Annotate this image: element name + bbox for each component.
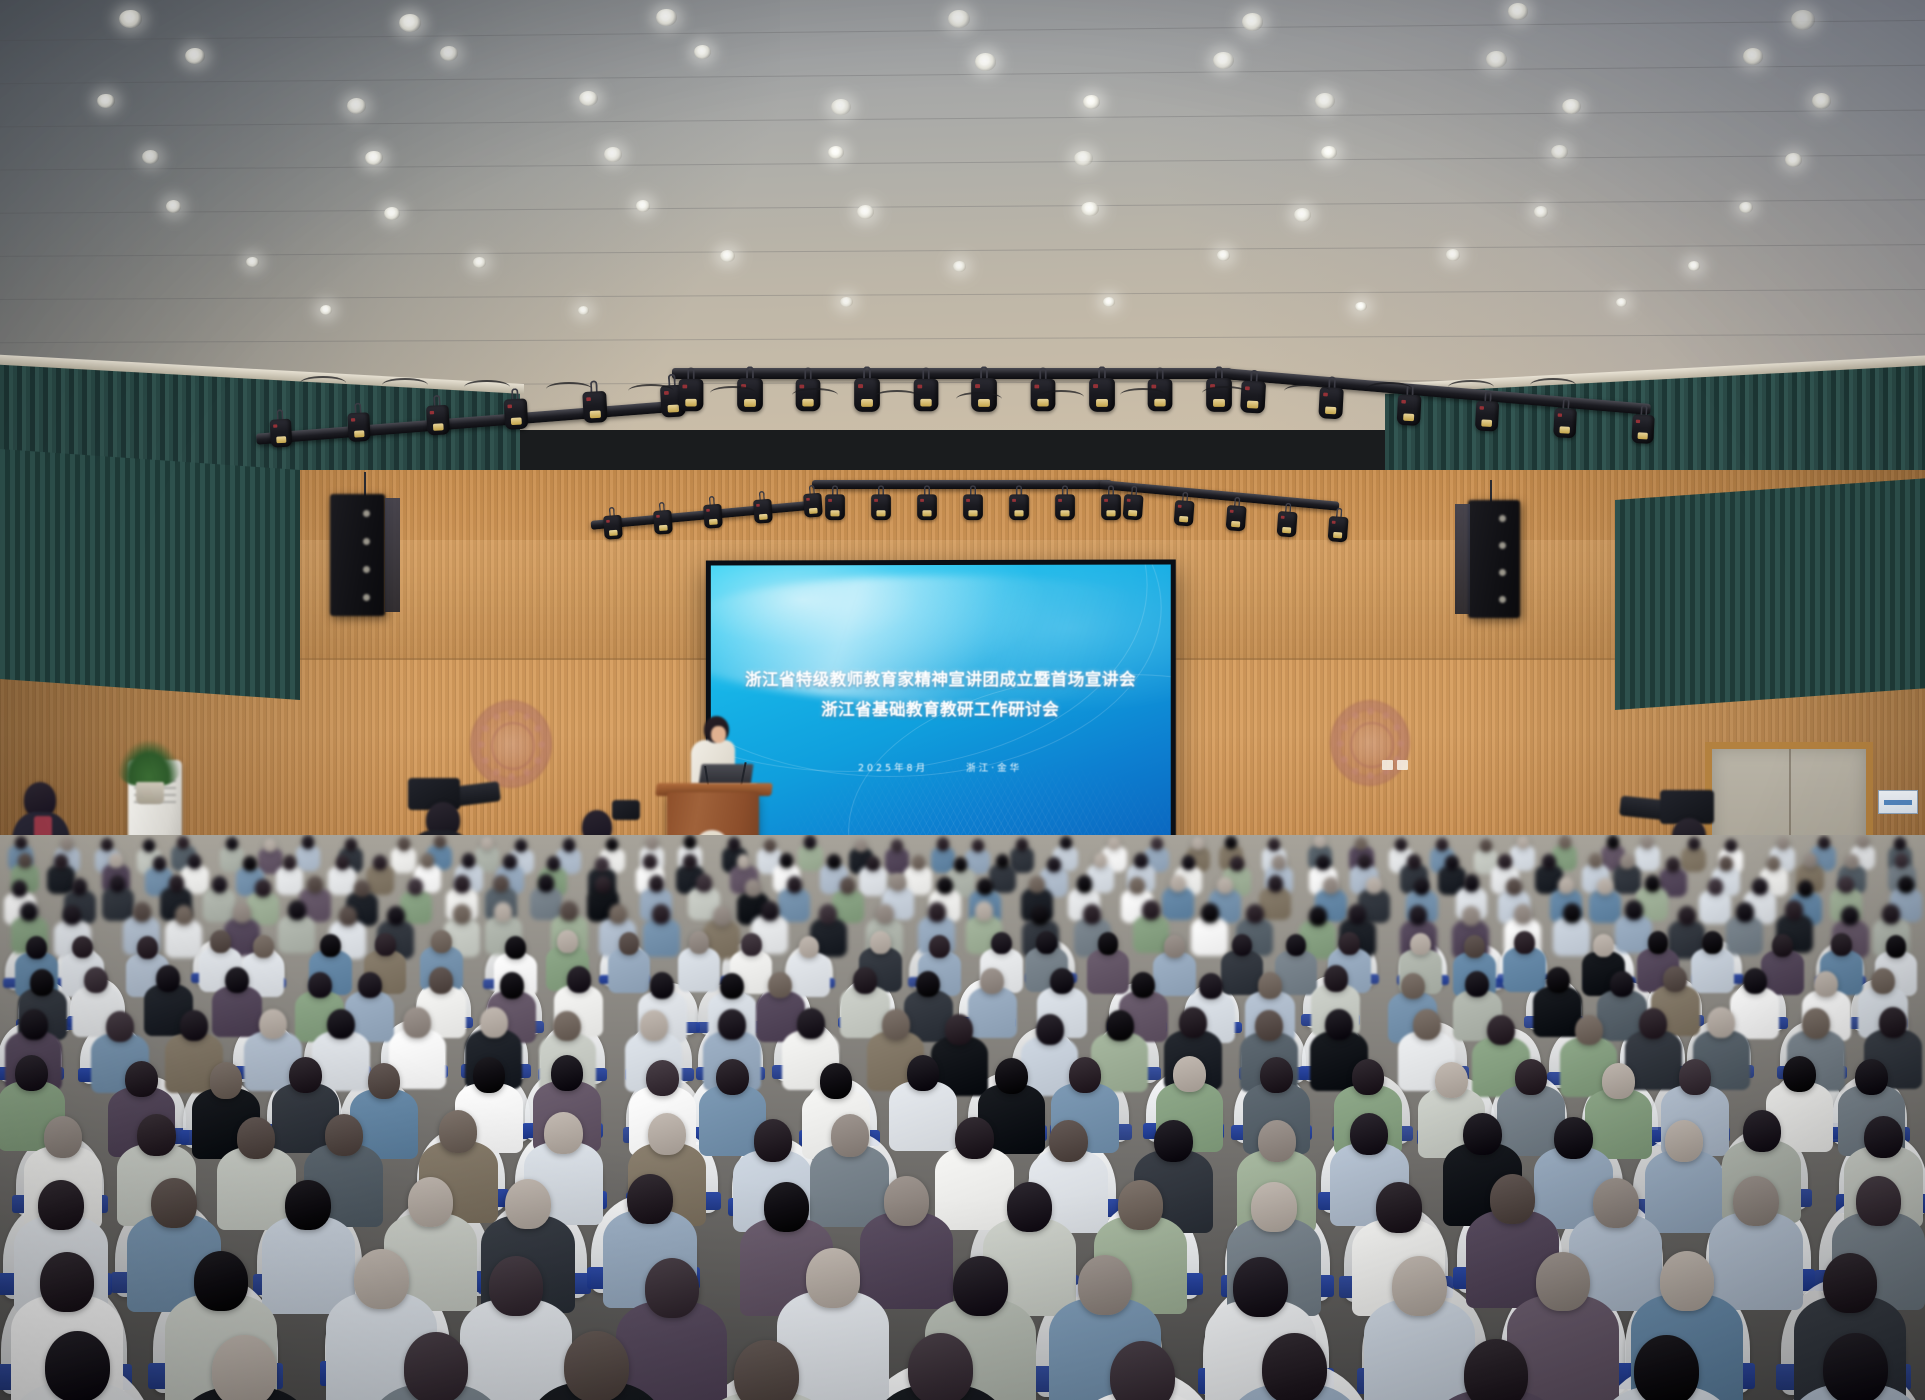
audience-member-head: [505, 936, 526, 959]
audience-member-head: [1260, 1057, 1293, 1093]
stage-spotlight: [1240, 379, 1266, 418]
audience-member-head: [1413, 1009, 1441, 1040]
audience-member-torso: [1635, 845, 1660, 871]
spotlight-indicator: [756, 503, 760, 506]
wall-emblem-right: [1330, 700, 1410, 786]
audience-member-head: [40, 1252, 94, 1312]
spotlight-lens: [1213, 399, 1225, 407]
audience-member-torso: [328, 866, 356, 895]
audience-member-torso: [1709, 1212, 1802, 1310]
audience-member-head: [827, 854, 841, 869]
emblem-dot: [1367, 772, 1374, 779]
spotlight-indicator: [975, 384, 980, 388]
audience-member-head: [1060, 836, 1072, 849]
audience-member-head: [283, 855, 297, 870]
ceiling-downlight: [119, 10, 141, 28]
screen-location-text: 浙江·金华: [966, 763, 1022, 774]
audience-member-head: [1879, 1007, 1907, 1038]
stage-spotlight: [1174, 498, 1195, 529]
ceiling-downlight: [604, 147, 623, 162]
audience-member-head: [20, 1009, 48, 1040]
spotlight-indicator: [806, 498, 810, 501]
ceiling-downlight: [1321, 146, 1336, 159]
audience-member-torso: [1259, 887, 1291, 920]
ceiling-downlight: [1812, 93, 1831, 108]
audience-member-head: [1498, 854, 1512, 869]
audience-member-torso: [1553, 917, 1590, 956]
audience-member-head: [264, 839, 276, 852]
ceiling-downlight: [246, 257, 259, 268]
spotlight-lens: [276, 436, 286, 443]
audience-member-head: [937, 837, 949, 850]
audience-member-head: [1898, 876, 1914, 893]
audience-member-torso: [1087, 949, 1130, 994]
audience-member-head: [1648, 931, 1669, 954]
spotlight-indicator: [1127, 499, 1131, 502]
audience-member-head: [133, 902, 151, 922]
ceiling-downlight: [1083, 95, 1100, 109]
audience-member-head: [1029, 876, 1045, 893]
audience-member-head: [716, 1059, 749, 1095]
audience-member-head: [106, 1011, 134, 1042]
audience-member-head: [259, 1009, 287, 1040]
spotlight-indicator: [1178, 504, 1182, 507]
spotlight-indicator: [273, 424, 277, 427]
spotlight-head: [1276, 511, 1297, 537]
spotlight-lens: [759, 513, 768, 519]
audience-member-head: [884, 1176, 930, 1226]
emblem-ring-dots-left: [472, 702, 550, 786]
audience-member-head: [1743, 968, 1767, 994]
audience-member-head: [1201, 903, 1219, 923]
audience-member-head: [643, 854, 657, 869]
audience-member-torso: [643, 918, 680, 957]
audience-member-head: [640, 1010, 668, 1041]
presenter-face: [711, 726, 726, 743]
truss-cable: [874, 390, 920, 404]
audience-member-head: [972, 839, 984, 852]
audience-member-head: [1108, 837, 1120, 850]
ceiling-downlight: [166, 200, 181, 213]
stage-spotlight: [1327, 515, 1348, 546]
truss-cable: [1120, 388, 1166, 402]
audience-member-head: [761, 901, 779, 921]
stage-spotlight: [803, 491, 823, 520]
audience-member-head: [180, 1010, 208, 1041]
audience-member-head: [408, 1177, 454, 1227]
audience-member-head: [1536, 1252, 1590, 1312]
audience-member-head: [995, 1058, 1028, 1094]
speaker-array-right: [1468, 500, 1520, 618]
audience-member-head: [1233, 1257, 1287, 1317]
spotlight-lens: [830, 510, 839, 516]
audience-member-head: [1831, 933, 1852, 956]
audience-member-head: [210, 930, 231, 953]
spotlight-lens: [1128, 510, 1137, 517]
audience-member-head: [1392, 1256, 1446, 1316]
audience-member-head: [1665, 1120, 1703, 1162]
audience-member-head: [806, 1248, 860, 1308]
ceiling-downlight: [975, 53, 996, 71]
audience-member-head: [1401, 973, 1425, 999]
exit-sign-bar: [1884, 800, 1912, 805]
audience-member-head: [1131, 972, 1155, 998]
audience-member-head: [564, 1331, 629, 1400]
spotlight-indicator: [1281, 515, 1285, 518]
emblem-dot: [1382, 712, 1389, 719]
audience-member-head: [882, 1009, 910, 1040]
audience-member-head: [645, 1258, 699, 1318]
audience-member-head: [609, 904, 627, 924]
audience-member-torso: [276, 866, 304, 895]
spotlight-head: [426, 405, 450, 436]
audience-member-head: [1708, 878, 1724, 895]
audience-member-head: [408, 878, 424, 895]
audience-member-head: [1620, 854, 1634, 869]
audience-member-head: [1845, 854, 1859, 869]
audience-member-torso: [798, 845, 823, 871]
ceiling-downlight: [1743, 48, 1763, 64]
audience-member-head: [907, 1055, 940, 1091]
audience-member-head: [1864, 1116, 1902, 1158]
audience-member-head: [953, 1256, 1007, 1316]
audience-member-head: [233, 903, 251, 923]
audience-member-head: [243, 856, 257, 871]
audience-member-head: [1350, 1113, 1388, 1155]
audience-member-head: [1409, 905, 1427, 925]
audience-member-head: [320, 934, 341, 957]
audience-member-head: [26, 936, 47, 959]
audience-member-head: [619, 932, 640, 955]
emblem-dot: [534, 725, 541, 732]
spotlight-head: [653, 509, 673, 534]
audience-member-torso: [212, 986, 261, 1037]
audience-member-head: [505, 1179, 551, 1229]
audience-member-head: [253, 935, 274, 958]
audience-member-head: [125, 1061, 158, 1097]
ceiling-downlight: [953, 261, 966, 272]
audience-member-head: [831, 1114, 869, 1156]
audience-member-head: [1268, 838, 1280, 851]
audience-member-head: [429, 967, 453, 993]
spotlight-head: [871, 494, 891, 520]
audience-member-head: [1707, 1007, 1735, 1038]
ceiling-downlight: [1081, 202, 1098, 216]
audience-member-head: [1047, 857, 1061, 872]
audience-member-head: [853, 967, 877, 993]
spotlight-lens: [968, 510, 977, 516]
audience-member-head: [908, 1333, 973, 1400]
audience-member-head: [1179, 1007, 1207, 1038]
audience-member-head: [1515, 1059, 1548, 1095]
audience-member-head: [1154, 1120, 1192, 1162]
ceiling-downlight: [97, 94, 114, 108]
emblem-dot: [1393, 724, 1400, 731]
audience-member-head: [339, 906, 357, 926]
audience-member-head: [1563, 903, 1581, 923]
spotlight-indicator: [351, 418, 355, 422]
spotlight-indicator: [682, 385, 687, 389]
spotlight-lens: [1559, 426, 1570, 433]
audience-member-head: [110, 875, 126, 892]
audience-member-head: [1514, 931, 1535, 954]
spotlight-head: [1123, 494, 1144, 520]
audience-member-head: [745, 879, 761, 896]
stage-spotlight: [582, 389, 608, 427]
spotlight-lens: [1014, 510, 1023, 516]
audience-member-head: [288, 900, 306, 920]
wall-switch-a[interactable]: [1382, 760, 1393, 770]
spotlight-head: [270, 419, 293, 448]
audience-member-head: [1435, 1062, 1468, 1098]
audience-member-head: [1804, 853, 1818, 868]
emblem-dot: [482, 757, 489, 764]
audience-member-head: [1814, 971, 1838, 997]
spotlight-head: [1174, 500, 1195, 526]
audience-member-head: [991, 932, 1012, 955]
audience-member-torso: [1589, 890, 1621, 923]
audience-member-head: [1602, 1063, 1635, 1099]
audience-member-head: [1639, 1008, 1667, 1039]
ceiling-downlight: [1486, 51, 1507, 68]
screen-title-line-1: 浙江省特级教师教育家精神宣讲团成立暨首场宣讲会: [711, 668, 1171, 692]
audience-member-torso: [788, 952, 831, 997]
audience-member-head: [1094, 853, 1108, 868]
audience-member-head: [1487, 1015, 1515, 1046]
ceiling-downlight: [1534, 206, 1548, 218]
audience-member-head: [453, 904, 471, 924]
audience-member-head: [937, 877, 953, 894]
spotlight-head: [803, 493, 823, 518]
audience-member-torso: [1191, 917, 1228, 956]
audience-member-head: [1170, 875, 1186, 892]
audience-member-head: [1324, 965, 1348, 991]
audience-member-head: [1554, 1117, 1592, 1159]
side-acoustic-panel-right: [1615, 478, 1925, 710]
spotlight-indicator: [858, 384, 863, 388]
audience-member-head: [1182, 855, 1196, 870]
ceiling-downlight: [1551, 145, 1568, 159]
audience-member-head: [929, 935, 950, 958]
audience-member-head: [646, 1060, 679, 1096]
audience-member-torso: [678, 947, 721, 992]
audience-member-head: [177, 836, 189, 849]
spotlight-head: [1397, 394, 1422, 426]
emblem-dot: [478, 741, 485, 748]
audience-member-head: [1607, 835, 1619, 848]
stage-spotlight: [603, 513, 623, 542]
audience-member-head: [387, 906, 405, 926]
audience-member-head: [1823, 1253, 1877, 1313]
emblem-dot: [1352, 767, 1359, 774]
audience-member-head: [307, 876, 323, 893]
audience-member-head: [1258, 1120, 1296, 1162]
spotlight-indicator: [966, 499, 970, 502]
audience-member-head: [1464, 874, 1480, 891]
audience-member-head: [1232, 934, 1253, 957]
wall-switch-b[interactable]: [1397, 760, 1408, 770]
audience-member-head: [683, 854, 697, 869]
audience-member-head: [1414, 878, 1430, 895]
audience-member-head: [1856, 1176, 1902, 1226]
audience-member-head: [358, 972, 382, 998]
ceiling-downlight: [656, 9, 676, 26]
audience-member-head: [289, 1057, 322, 1093]
audience-member-head: [1339, 932, 1360, 955]
emblem-dot: [493, 713, 500, 720]
emblem-dot: [482, 725, 489, 732]
audience-member-torso: [1726, 916, 1763, 955]
audience-member-head: [684, 835, 696, 848]
audience-member-head: [1772, 934, 1793, 957]
audience-member-head: [375, 933, 396, 956]
spotlight-lens: [744, 399, 756, 407]
spotlight-lens: [1481, 420, 1492, 428]
emblem-dot: [1352, 712, 1359, 719]
audience-member-head: [1823, 1333, 1888, 1400]
ceiling-downlight: [185, 48, 204, 64]
audience-member-head: [870, 931, 891, 954]
audience-member-head: [1517, 836, 1529, 849]
spotlight-indicator: [1401, 400, 1406, 404]
audience-seating-area: [0, 835, 1925, 1400]
audience-member-head: [595, 876, 611, 893]
audience-member-head: [1767, 856, 1781, 871]
spotlight-lens: [920, 399, 931, 407]
audience-member-head: [225, 967, 249, 993]
audience-member-head: [650, 972, 674, 998]
audience-member-torso: [296, 845, 321, 871]
spotlight-head: [825, 494, 845, 520]
audience-member-head: [1464, 935, 1485, 958]
audience-member-head: [1575, 1015, 1603, 1046]
audience-member-torso: [608, 948, 651, 993]
stage-spotlight: [1553, 406, 1577, 442]
spotlight-indicator: [1229, 510, 1233, 513]
audience-member-torso: [1221, 950, 1264, 995]
audience-member-head: [737, 854, 751, 869]
audience-member-head: [1597, 878, 1613, 895]
screen-title-line-2: 浙江省基础教育教研工作研讨会: [711, 698, 1171, 722]
audience-member-head: [354, 880, 370, 897]
speaker-hang-wire-right: [1490, 480, 1492, 502]
audience-member-head: [1679, 1059, 1712, 1095]
audience-member-head: [1069, 1057, 1102, 1093]
stage-spotlight: [1631, 413, 1655, 448]
emblem-ring-dots-right: [1332, 702, 1408, 784]
audience-member-head: [12, 880, 28, 897]
audience-member-head: [916, 971, 940, 997]
audience-member-head: [1725, 839, 1737, 852]
audience-member-head: [188, 854, 202, 869]
ceiling-downlight: [1355, 302, 1366, 311]
emblem-dot: [534, 757, 541, 764]
audience-member-head: [20, 902, 38, 922]
stage-plant-left: [118, 740, 180, 786]
audience-member-head: [1352, 1059, 1385, 1095]
audience-member-head: [1049, 1120, 1087, 1162]
audience-member-head: [1246, 904, 1264, 924]
audience-member-head: [1173, 1056, 1206, 1092]
audience-member-torso: [1699, 890, 1731, 923]
spotlight-head: [1553, 408, 1577, 438]
speaker-hang-wire-left: [364, 472, 366, 496]
audience-member-head: [84, 967, 108, 993]
audience-member-head: [955, 1117, 993, 1159]
audience-member-head: [1129, 877, 1145, 894]
ceiling-downlight: [828, 146, 844, 159]
audience-member-torso: [860, 1212, 953, 1310]
ceiling-downlight: [1213, 52, 1234, 69]
audience-member-head: [538, 874, 554, 891]
audience-member-torso: [889, 1081, 956, 1151]
spotlight-lens: [861, 399, 873, 407]
audience-member-head: [421, 853, 435, 868]
audience-member-head: [547, 856, 561, 871]
spotlight-indicator: [828, 499, 832, 502]
ceiling-downlight: [1688, 261, 1700, 271]
audience-member-head: [1031, 905, 1049, 925]
audience-member-head: [345, 838, 357, 851]
stage-spotlight: [1055, 493, 1075, 523]
audience-member-head: [1192, 837, 1204, 850]
spotlight-indicator: [606, 520, 610, 523]
audience-member-head: [741, 933, 762, 956]
truss-cable: [546, 382, 592, 396]
audience-member-head: [1217, 877, 1233, 894]
audience-member-head: [1660, 1251, 1714, 1311]
truss-cable: [792, 388, 838, 402]
stage-spotlight: [825, 493, 845, 523]
audience-member-head: [840, 877, 856, 894]
audience-member-head: [649, 875, 665, 892]
spotlight-lens: [1333, 532, 1342, 539]
spotlight-lens: [668, 405, 680, 413]
side-acoustic-panel-left: [0, 449, 300, 700]
stage-spotlight: [1009, 493, 1029, 523]
spotlight-head: [1225, 505, 1246, 531]
audience-member-head: [1262, 1333, 1327, 1400]
audience-member-head: [212, 1335, 277, 1400]
audience-member-head: [1272, 855, 1286, 870]
audience-member-head: [1098, 932, 1119, 955]
audience-member-head: [38, 1180, 84, 1230]
audience-member-head: [137, 936, 158, 959]
truss-cable: [710, 386, 756, 400]
spotlight-lens: [1106, 510, 1115, 516]
audience-member-head: [720, 973, 744, 999]
audience-member-head: [493, 875, 509, 892]
audience-member-head: [1857, 835, 1869, 848]
ceiling-downlight: [857, 205, 874, 219]
spotlight-lens: [609, 530, 618, 536]
audience-member-head: [866, 856, 880, 871]
audience-member-head: [1463, 1113, 1501, 1155]
truss-cable: [1366, 382, 1412, 396]
audience-member-head: [1309, 906, 1327, 926]
audience-member-torso: [165, 919, 202, 958]
screen-subtitle-block: 2025年8月 浙江·金华: [711, 760, 1171, 774]
ceiling-downlight: [347, 98, 367, 114]
audience-member-head: [480, 1007, 508, 1038]
audience-member-head: [1151, 837, 1163, 850]
truss-cable: [464, 380, 510, 394]
spotlight-head: [1475, 401, 1499, 432]
audience-member-head: [646, 836, 658, 849]
spotlight-lens: [809, 508, 818, 514]
audience-member-head: [325, 1114, 363, 1156]
spotlight-lens: [589, 411, 600, 419]
